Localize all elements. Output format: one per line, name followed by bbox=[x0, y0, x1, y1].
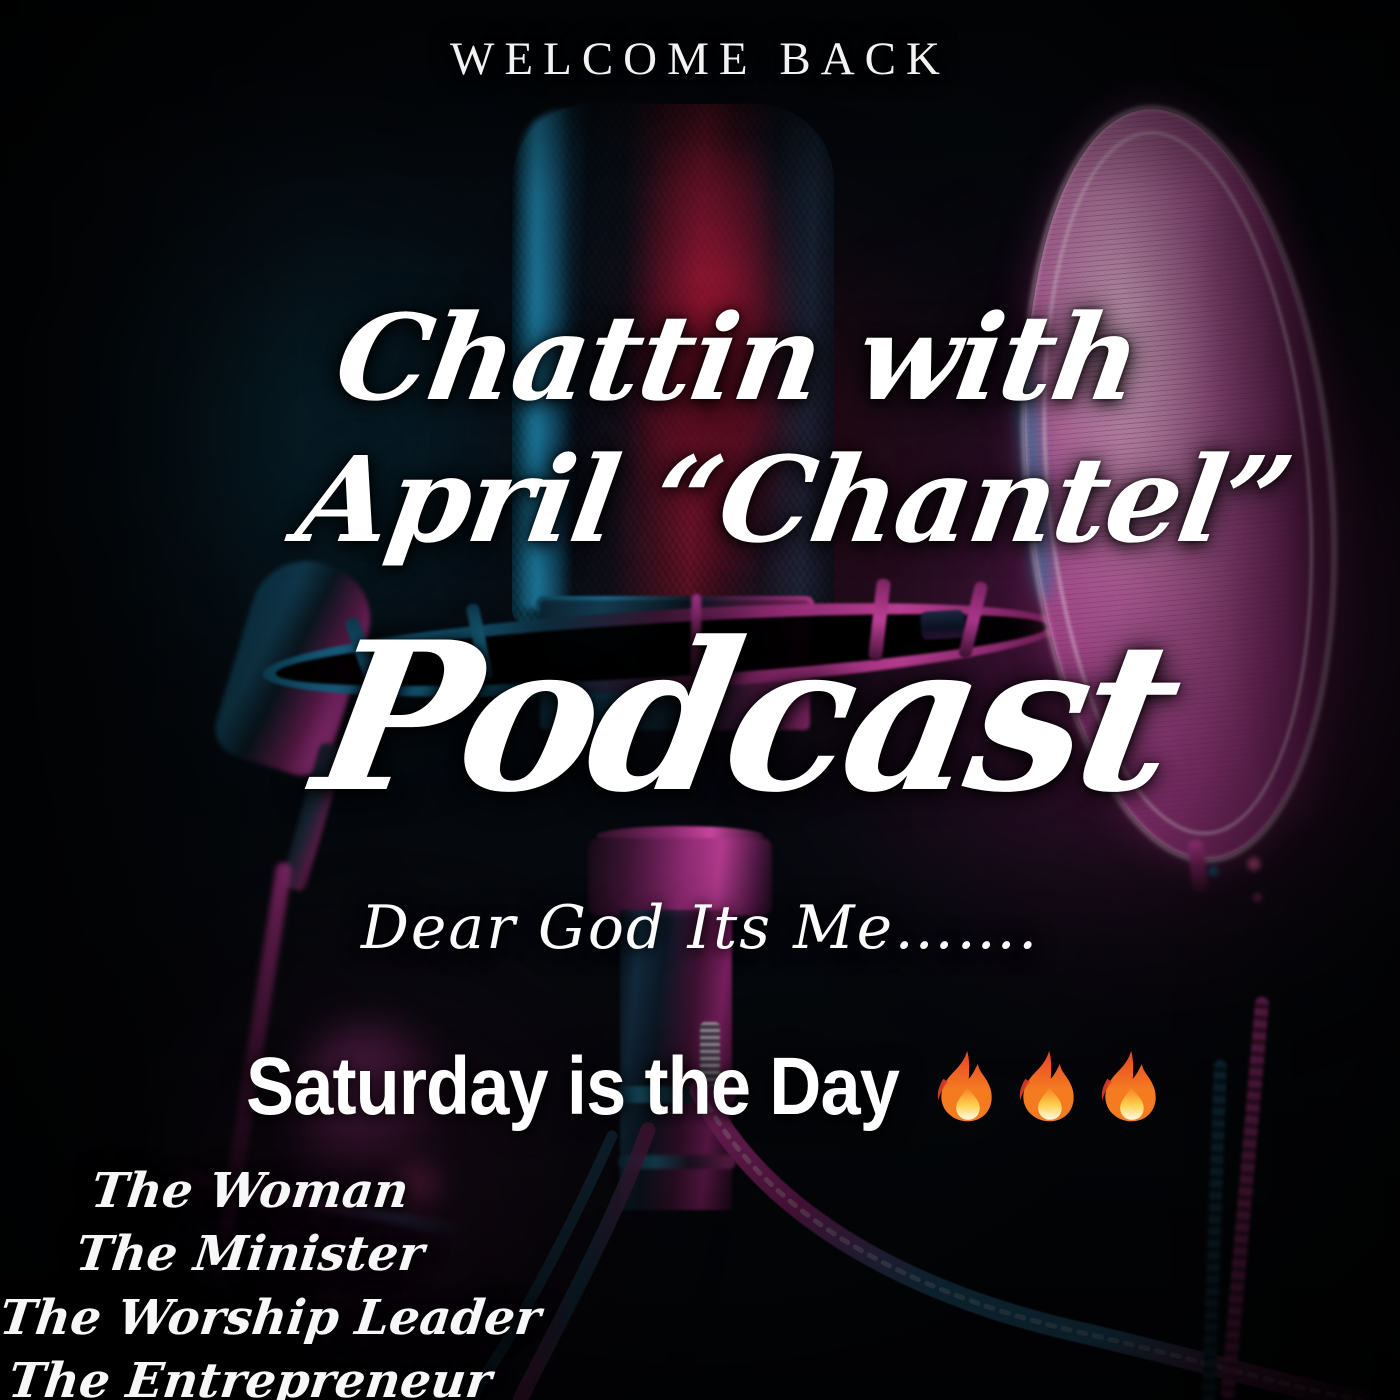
fire-emoji-icon bbox=[1086, 1046, 1168, 1128]
fire-emoji-icon bbox=[922, 1046, 1004, 1128]
announcement-row: Saturday is the Day bbox=[246, 1040, 1168, 1134]
welcome-back-eyebrow: WELCOME BACK bbox=[0, 32, 1400, 86]
text-overlay: WELCOME BACK Chattin with April “Chantel… bbox=[0, 0, 1400, 1400]
role-item: The Minister bbox=[0, 1223, 504, 1286]
podcast-title-line-3: Podcast bbox=[301, 598, 1191, 838]
podcast-tagline: Dear God Its Me……. bbox=[0, 893, 1400, 963]
fire-emoji-icon bbox=[1004, 1046, 1086, 1128]
podcast-title-line-1: Chattin with bbox=[327, 288, 1149, 427]
role-item: The Worship Leader bbox=[0, 1287, 504, 1350]
podcast-cover-art: WELCOME BACK Chattin with April “Chantel… bbox=[0, 0, 1400, 1400]
roles-list: The WomanThe MinisterThe Worship LeaderT… bbox=[0, 1160, 500, 1400]
role-item: The Woman bbox=[0, 1160, 504, 1223]
fire-emoji-group bbox=[922, 1046, 1168, 1128]
announcement-text: Saturday is the Day bbox=[246, 1040, 899, 1134]
podcast-title-line-2: April “Chantel” bbox=[289, 430, 1300, 569]
role-item: The Entrepreneur bbox=[0, 1350, 504, 1400]
